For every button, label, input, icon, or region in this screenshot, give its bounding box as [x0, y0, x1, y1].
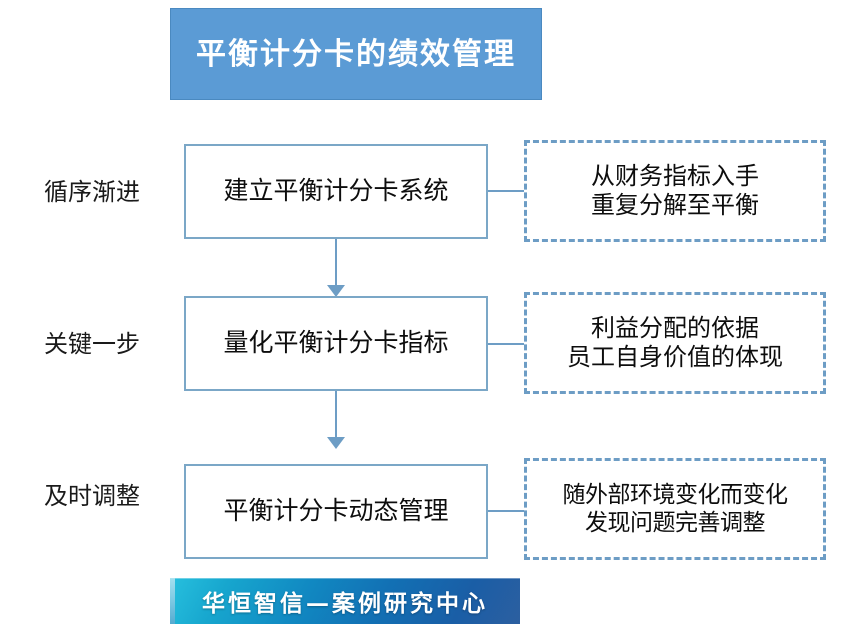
- process-box-3-label: 平衡计分卡动态管理: [223, 497, 448, 526]
- page-title: 平衡计分卡的绩效管理: [196, 38, 516, 71]
- note-box-3-line-1: 随外部环境变化而变化: [563, 481, 788, 509]
- slide-title-box: 平衡计分卡的绩效管理: [170, 8, 542, 100]
- connector-horizontal-3: [488, 510, 525, 512]
- connector-vertical-1-shaft: [335, 239, 337, 287]
- process-box-1-label: 建立平衡计分卡系统: [223, 177, 448, 206]
- slide-canvas: 平衡计分卡的绩效管理 循序渐进 建立平衡计分卡系统 从财务指标入手 重复分解至平…: [0, 0, 860, 634]
- footer-brand-banner: 华恒智信—案例研究中心: [170, 578, 520, 624]
- connector-horizontal-1: [488, 190, 525, 192]
- process-box-3[interactable]: 平衡计分卡动态管理: [184, 464, 488, 559]
- note-box-2[interactable]: 利益分配的依据 员工自身价值的体现: [524, 292, 826, 394]
- connector-vertical-2-shaft: [335, 391, 337, 439]
- stage-label-3: 及时调整: [8, 482, 176, 511]
- connector-vertical-2-arrowhead-icon: [327, 437, 345, 449]
- note-box-1-line-2: 重复分解至平衡: [591, 191, 759, 220]
- note-box-3[interactable]: 随外部环境变化而变化 发现问题完善调整: [524, 458, 826, 560]
- process-box-2-label: 量化平衡计分卡指标: [223, 329, 448, 358]
- footer-brand-label: 华恒智信—案例研究中心: [202, 584, 488, 618]
- process-box-1[interactable]: 建立平衡计分卡系统: [184, 144, 488, 239]
- stage-label-2: 关键一步: [8, 330, 176, 359]
- note-box-2-line-1: 利益分配的依据: [591, 314, 759, 343]
- note-box-3-line-2: 发现问题完善调整: [585, 509, 765, 537]
- note-box-1-line-1: 从财务指标入手: [591, 162, 759, 191]
- note-box-1[interactable]: 从财务指标入手 重复分解至平衡: [524, 140, 826, 242]
- process-box-2[interactable]: 量化平衡计分卡指标: [184, 296, 488, 391]
- note-box-2-line-2: 员工自身价值的体现: [567, 343, 783, 372]
- stage-label-1: 循序渐进: [8, 178, 176, 207]
- connector-horizontal-2: [488, 343, 525, 345]
